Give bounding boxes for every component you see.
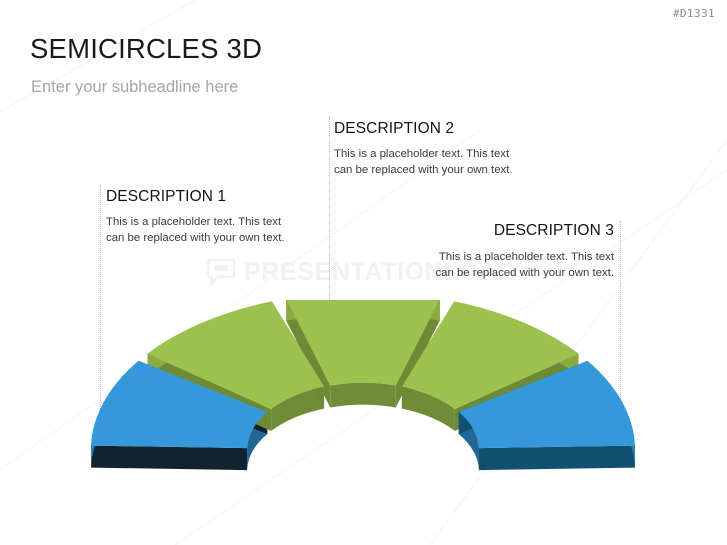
description-title-2: DESCRIPTION 2: [334, 120, 513, 138]
semicircle-3d-chart: [0, 300, 727, 500]
description-title-1: DESCRIPTION 1: [106, 188, 285, 206]
slide-canvas: #D1331 SEMICIRCLES 3D Enter your subhead…: [0, 0, 727, 545]
description-block-3: DESCRIPTION 3 This is a placeholder text…: [435, 222, 614, 281]
speech-bubble-icon: [207, 259, 235, 285]
description-block-1: DESCRIPTION 1 This is a placeholder text…: [106, 188, 285, 246]
page-title: SEMICIRCLES 3D: [30, 33, 262, 65]
description-body-1: This is a placeholder text. This text ca…: [106, 215, 285, 246]
description-body-2: This is a placeholder text. This text ca…: [334, 147, 513, 178]
description-title-3: DESCRIPTION 3: [435, 222, 614, 240]
description-block-2: DESCRIPTION 2 This is a placeholder text…: [334, 120, 513, 178]
slide-code: #D1331: [673, 7, 715, 20]
page-subtitle: Enter your subheadline here: [31, 78, 238, 97]
description-body-3: This is a placeholder text. This text ca…: [435, 250, 614, 281]
